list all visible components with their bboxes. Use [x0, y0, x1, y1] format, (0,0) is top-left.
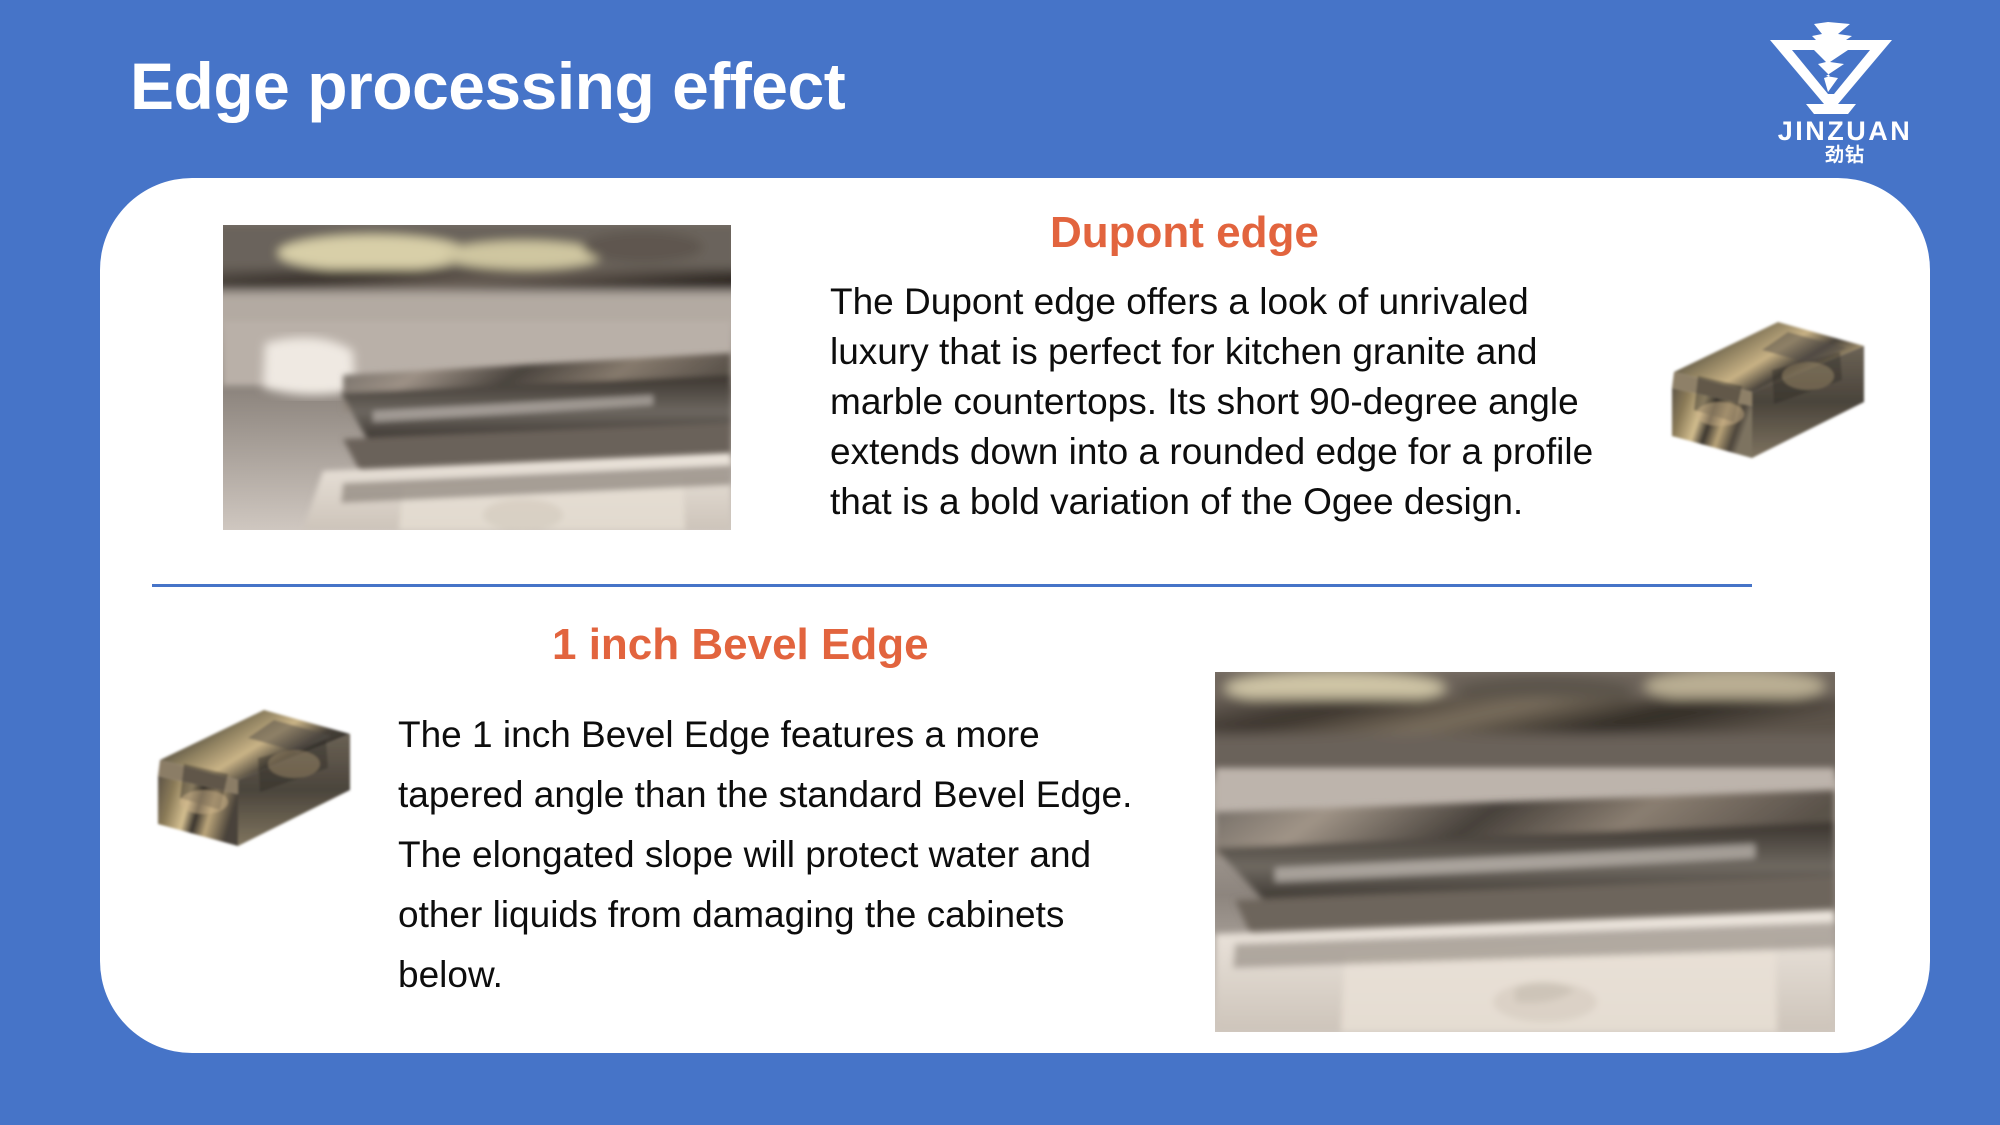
brand-logo: JINZUAN 劲钻 — [1750, 22, 1940, 162]
page-title: Edge processing effect — [130, 48, 845, 124]
section-body-dupont-edge: The Dupont edge offers a look of unrival… — [830, 277, 1600, 527]
section-body-bevel-edge: The 1 inch Bevel Edge features a more ta… — [398, 705, 1158, 1005]
jinzuan-v-drill-icon — [1768, 22, 1894, 122]
logo-wordmark: JINZUAN — [1750, 118, 1940, 145]
bevel-edge-countertop-photo — [1215, 672, 1835, 1032]
section-heading-dupont-edge: Dupont edge — [1050, 208, 1319, 258]
section-heading-bevel-edge: 1 inch Bevel Edge — [552, 620, 929, 670]
logo-chinese-name: 劲钻 — [1750, 146, 1940, 165]
section-divider — [152, 584, 1752, 587]
dupont-edge-granite-sample — [1602, 310, 1867, 475]
bevel-edge-granite-sample — [90, 700, 355, 865]
slide-canvas: Edge processing effect JINZUAN 劲钻 — [0, 0, 2000, 1125]
dupont-edge-countertop-photo — [223, 225, 731, 530]
